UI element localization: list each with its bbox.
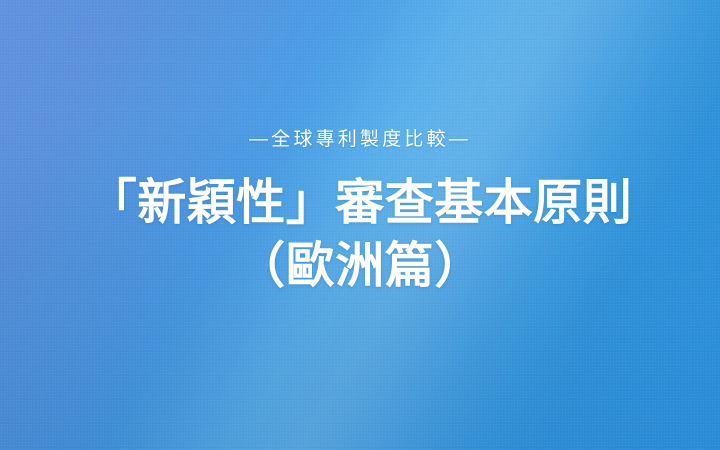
banner-subtitle: —全球專利製度比較— [249,130,471,149]
banner-content: —全球專利製度比較— 「新穎性」審查基本原則 （歐洲篇） [0,0,720,450]
banner-title: 「新穎性」審查基本原則 （歐洲篇） [88,172,633,297]
banner-title-line-1: 「新穎性」審查基本原則 [88,172,633,235]
banner-title-line-2: （歐洲篇） [88,235,633,298]
cover-banner: —全球專利製度比較— 「新穎性」審查基本原則 （歐洲篇） [0,0,720,450]
